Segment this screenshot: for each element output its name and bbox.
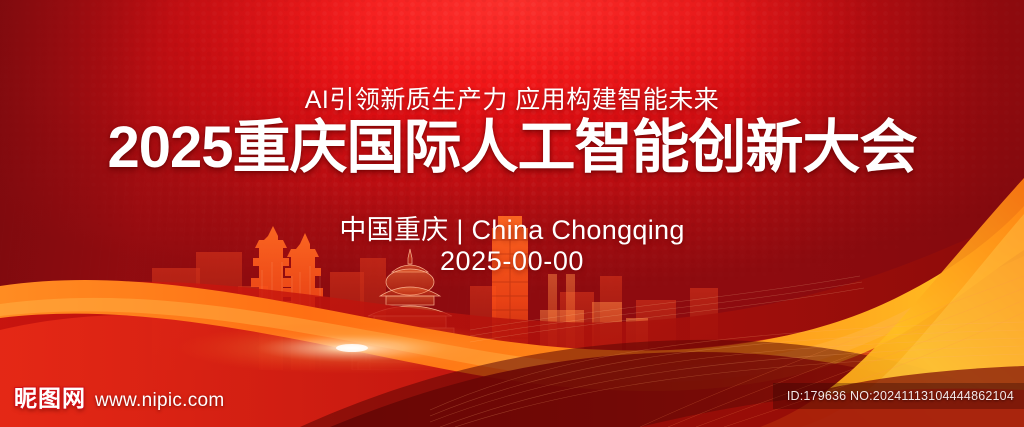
image-id-band: ID:179636 NO:20241113104444862104	[773, 383, 1024, 409]
poster-title: 2025重庆国际人工智能创新大会	[0, 118, 1024, 179]
poster-canvas: AI引领新质生产力 应用构建智能未来 2025重庆国际人工智能创新大会 中国重庆…	[0, 0, 1024, 427]
nipic-url-text: www.nipic.com	[95, 390, 225, 412]
nipic-logo-text: 昵图网	[14, 379, 86, 413]
poster-date: 2025-00-00	[0, 246, 1024, 277]
poster-subtitle: AI引领新质生产力 应用构建智能未来	[0, 80, 1024, 116]
poster-location: 中国重庆 | China Chongqing	[0, 208, 1024, 247]
nipic-watermark: 昵图网 www.nipic.com	[14, 379, 225, 413]
image-id-text: ID:179636 NO:20241113104444862104	[787, 389, 1014, 403]
